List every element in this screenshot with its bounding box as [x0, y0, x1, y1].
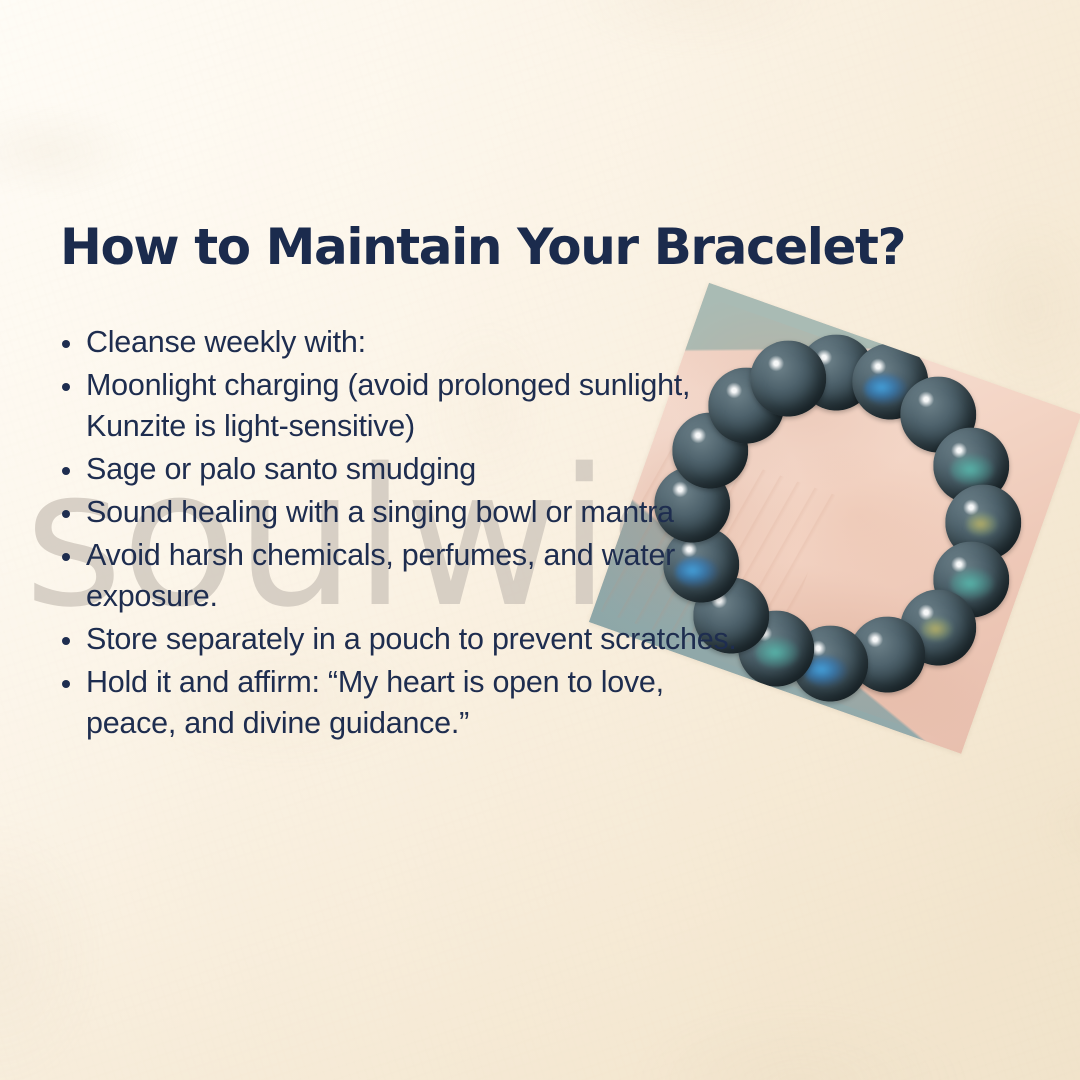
list-item: Sound healing with a singing bowl or man…: [56, 492, 746, 533]
list-item: Avoid harsh chemicals, perfumes, and wat…: [56, 535, 746, 617]
poster-canvas: soulwise How to Maintain Your Bracelet? …: [0, 0, 1080, 1080]
list-item: Hold it and affirm: “My heart is open to…: [56, 662, 746, 744]
page-title: How to Maintain Your Bracelet?: [60, 218, 1010, 276]
list-item: Sage or palo santo smudging: [56, 449, 746, 490]
list-item: Cleanse weekly with:: [56, 322, 746, 363]
care-instruction-list: Cleanse weekly with: Moonlight charging …: [56, 322, 746, 746]
list-item: Moonlight charging (avoid prolonged sunl…: [56, 365, 746, 447]
list-item: Store separately in a pouch to prevent s…: [56, 619, 746, 660]
bead: [750, 340, 826, 416]
